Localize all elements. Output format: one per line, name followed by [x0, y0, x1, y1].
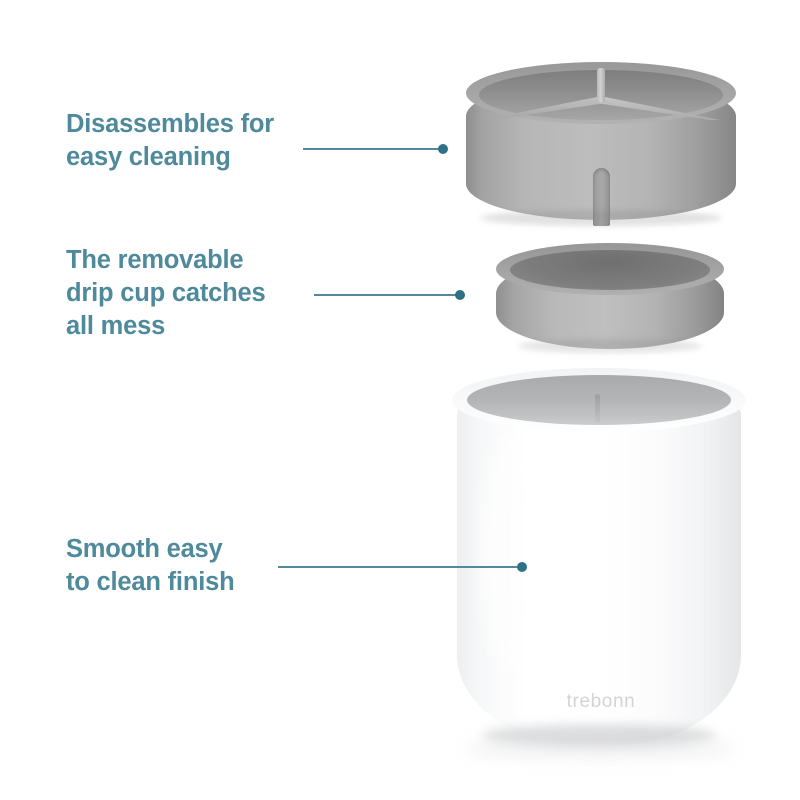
cup-ground-shadow — [464, 738, 736, 758]
drip-cup-base-shadow — [518, 339, 702, 353]
callout-text-smooth-finish: Smooth easy to clean finish — [66, 533, 316, 599]
leader-dot-disassembles — [438, 144, 448, 154]
brand-logo: trebonn — [556, 691, 646, 713]
leader-dot-smooth-finish — [517, 562, 527, 572]
drip-cup-part — [496, 243, 724, 353]
leader-dot-drip-cup — [455, 290, 465, 300]
callout-text-disassembles: Disassembles for easy cleaning — [66, 108, 326, 174]
cup-inner-ridge — [595, 394, 600, 422]
callout-text-drip-cup: The removable drip cup catches all mess — [66, 244, 331, 343]
caddy-divider-stem — [597, 68, 605, 102]
divider-caddy-part — [466, 62, 736, 228]
drip-cup-inner-well — [510, 250, 710, 290]
infographic-canvas: trebonn Disassembles for easy cleaning T… — [0, 0, 800, 800]
caddy-base-shadow — [480, 210, 722, 226]
leader-line-drip-cup — [314, 294, 460, 296]
cup-highlight-sheen — [482, 428, 540, 678]
